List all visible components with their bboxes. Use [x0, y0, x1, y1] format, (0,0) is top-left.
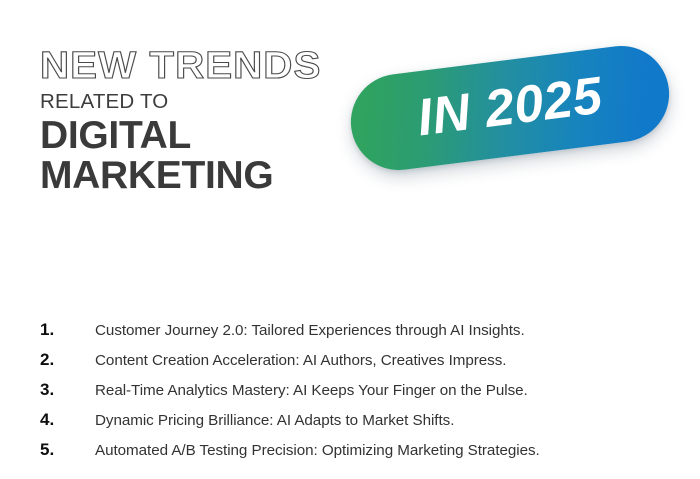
- list-item-text: Content Creation Acceleration: AI Author…: [95, 352, 665, 369]
- list-item-text: Customer Journey 2.0: Tailored Experienc…: [95, 322, 665, 339]
- slide-canvas: NEW TRENDS RELATED TO DIGITAL MARKETING …: [0, 0, 700, 479]
- list-item-text: Real-Time Analytics Mastery: AI Keeps Yo…: [95, 382, 665, 399]
- page-subtitle: RELATED TO: [40, 91, 370, 114]
- year-badge-wrapper: IN 2025: [350, 46, 672, 172]
- year-badge-label: IN 2025: [415, 70, 606, 147]
- page-title-line-2: MARKETING: [40, 156, 370, 196]
- heading-block: NEW TRENDS RELATED TO DIGITAL MARKETING: [40, 48, 370, 196]
- page-title-outline: NEW TRENDS: [40, 48, 390, 85]
- page-title-line-1: DIGITAL: [40, 116, 370, 156]
- list-item: 5. Automated A/B Testing Precision: Opti…: [40, 440, 665, 470]
- list-item: 2. Content Creation Acceleration: AI Aut…: [40, 350, 665, 380]
- year-badge: IN 2025: [345, 40, 675, 175]
- list-item: 1. Customer Journey 2.0: Tailored Experi…: [40, 320, 665, 350]
- list-item-number: 2.: [40, 350, 95, 370]
- list-item: 4. Dynamic Pricing Brilliance: AI Adapts…: [40, 410, 665, 440]
- list-item-number: 4.: [40, 410, 95, 430]
- list-item-text: Automated A/B Testing Precision: Optimiz…: [95, 442, 665, 459]
- list-item-number: 5.: [40, 440, 95, 460]
- list-item-number: 3.: [40, 380, 95, 400]
- list-item: 3. Real-Time Analytics Mastery: AI Keeps…: [40, 380, 665, 410]
- list-item-number: 1.: [40, 320, 95, 340]
- trend-list: 1. Customer Journey 2.0: Tailored Experi…: [40, 320, 665, 470]
- list-item-text: Dynamic Pricing Brilliance: AI Adapts to…: [95, 412, 665, 429]
